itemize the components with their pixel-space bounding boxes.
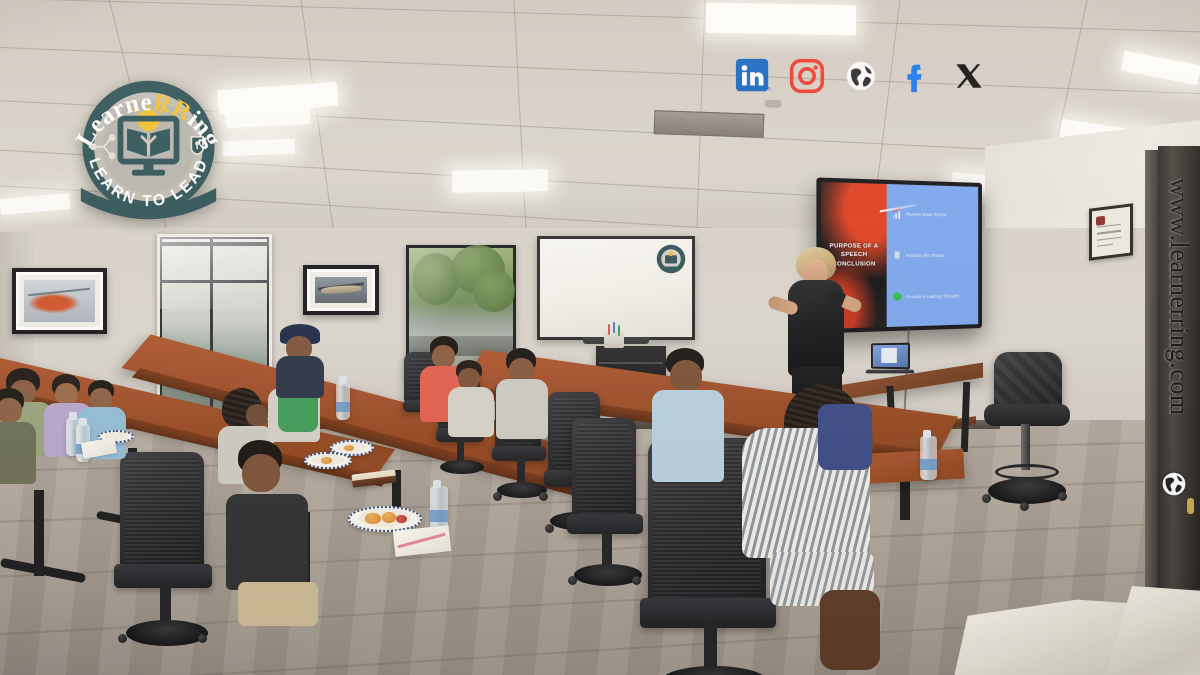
social-icon-row: ® bbox=[733, 56, 989, 96]
slide-bullet: Provide a Lasting Thought bbox=[893, 291, 974, 302]
paper-plate bbox=[304, 452, 352, 469]
website-globe-icon[interactable] bbox=[841, 56, 881, 96]
door-jamb bbox=[1145, 150, 1158, 640]
chart-trend-icon bbox=[893, 210, 902, 220]
facebook-icon[interactable] bbox=[895, 56, 935, 96]
ceiling-light bbox=[452, 169, 548, 193]
framed-aircraft-photo bbox=[303, 265, 379, 315]
laptop[interactable] bbox=[866, 343, 912, 379]
slide-bullet: Restate the Thesis bbox=[893, 251, 974, 260]
slide-bullet: Review Main Points bbox=[893, 210, 974, 221]
learnerring-logo: LearneRRing LEARN TO LEAD bbox=[66, 66, 231, 234]
ceiling-light bbox=[0, 193, 71, 215]
classroom-photo: PURPOSE OF A SPEECH CONCLUSION Review Ma… bbox=[0, 0, 1200, 675]
water-bottle bbox=[336, 382, 350, 420]
leg bbox=[820, 590, 880, 670]
framed-helicopter-photo bbox=[12, 268, 107, 334]
framed-certificate bbox=[1089, 203, 1133, 260]
ceiling-light bbox=[226, 106, 311, 128]
slide-bullet-text: Review Main Points bbox=[906, 212, 946, 218]
slide-bullet-text: Restate the Thesis bbox=[906, 253, 944, 258]
linkedin-icon[interactable]: ® bbox=[733, 56, 773, 96]
slide-bullet-panel: Review Main Points Restate the Thesis Pr… bbox=[886, 184, 978, 327]
door-handle[interactable] bbox=[1187, 498, 1194, 514]
table-leg bbox=[34, 490, 44, 576]
ceiling-light bbox=[1121, 51, 1200, 86]
instagram-icon[interactable] bbox=[787, 56, 827, 96]
whiteboard bbox=[537, 236, 695, 340]
stool-seat bbox=[984, 404, 1070, 426]
document-icon bbox=[893, 251, 902, 260]
green-dot-icon bbox=[893, 292, 902, 302]
x-twitter-icon[interactable] bbox=[949, 56, 989, 96]
stool-base bbox=[988, 478, 1066, 504]
shorts bbox=[238, 582, 318, 626]
laptop-screen bbox=[871, 343, 910, 370]
smoke-detector-icon bbox=[765, 100, 781, 106]
water-bottle bbox=[920, 436, 937, 480]
website-url-watermark: www.learnerring.com bbox=[1164, 178, 1194, 416]
ceiling-light bbox=[223, 139, 295, 157]
ceiling-vent bbox=[654, 110, 765, 138]
drafting-stool bbox=[978, 352, 1074, 527]
laptop-keyboard[interactable] bbox=[866, 370, 915, 374]
slide-bullet-text: Provide a Lasting Thought bbox=[906, 293, 959, 299]
ceiling-light bbox=[706, 3, 857, 36]
pen-cup bbox=[604, 332, 624, 348]
whiteboard-logo-icon bbox=[656, 244, 686, 274]
globe-watermark-icon bbox=[1160, 470, 1188, 498]
